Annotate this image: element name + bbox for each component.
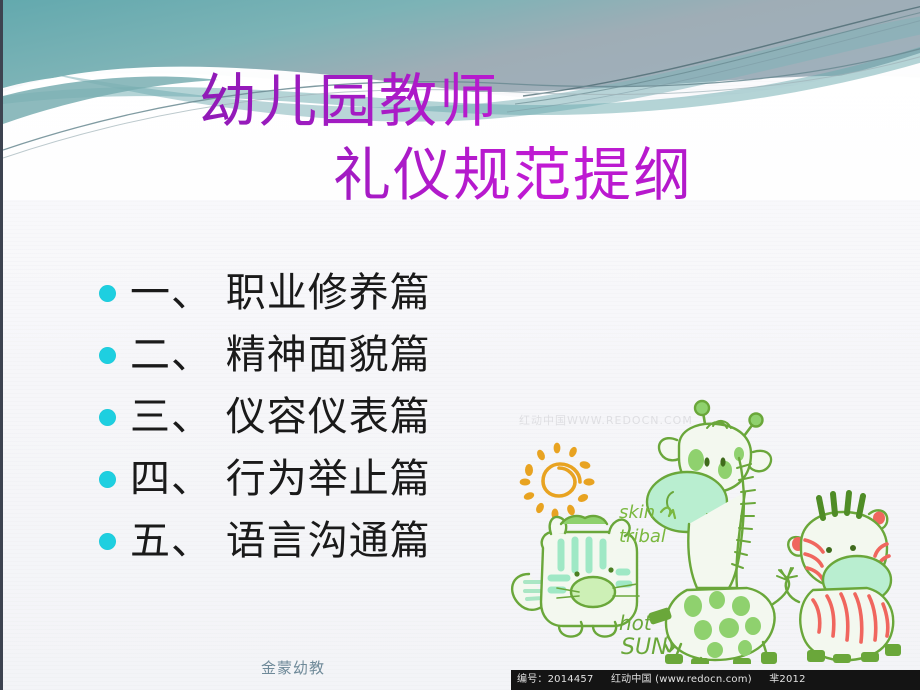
caption-sun: SUN (621, 635, 668, 660)
caption-tribal: tribal (619, 526, 666, 547)
sun-spiral (543, 464, 580, 496)
bullet-dot-icon (99, 347, 116, 364)
watermark-site: 红动中国 (www.redocn.com) (611, 674, 752, 685)
list-item[interactable]: 一、 职业修养篇 (99, 262, 519, 324)
stock-watermark-bar: 编号：2014457 红动中国 (www.redocn.com) 芈2012 (511, 670, 920, 690)
watermark-id: 编号：2014457 (517, 674, 594, 685)
brand-label: 金蒙幼教 (261, 657, 325, 678)
list-item[interactable]: 二、 精神面貌篇 (99, 324, 519, 386)
caption-skin: skin (619, 502, 655, 523)
list-item[interactable]: 五、 语言沟通篇 (99, 510, 519, 572)
list-item-label: 二、 精神面貌篇 (130, 335, 431, 375)
list-item-label: 一、 职业修养篇 (130, 273, 431, 313)
sun-icon (520, 443, 595, 520)
bullet-dot-icon (99, 409, 116, 426)
presentation-slide: 幼儿园教师 礼仪规范提纲 一、 职业修养篇 二、 精神面貌篇 三、 仪容仪表篇 … (0, 0, 920, 690)
bullet-dot-icon (99, 471, 116, 488)
list-item-label: 五、 语言沟通篇 (130, 521, 431, 561)
outline-list: 一、 职业修养篇 二、 精神面貌篇 三、 仪容仪表篇 四、 行为举止篇 五、 语… (99, 262, 519, 572)
title-line-2: 礼仪规范提纲 (3, 138, 763, 212)
bullet-dot-icon (99, 285, 116, 302)
bullet-dot-icon (99, 533, 116, 550)
list-item-label: 三、 仪容仪表篇 (130, 397, 431, 437)
caption-hot: hot (619, 611, 653, 635)
watermark-year: 芈2012 (769, 674, 805, 685)
list-item[interactable]: 三、 仪容仪表篇 (99, 386, 519, 448)
illustration-watermark: 红动中国WWW.REDOCN.COM (519, 412, 693, 428)
page-title: 幼儿园教师 礼仪规范提纲 (3, 64, 763, 212)
cartoon-animals-illustration: skin tribal hot SUN (501, 392, 920, 664)
zebra-figure (777, 493, 901, 663)
title-line-1: 幼儿园教师 (3, 64, 763, 138)
giraffe-figure (647, 401, 797, 664)
list-item-label: 四、 行为举止篇 (130, 459, 431, 499)
list-item[interactable]: 四、 行为举止篇 (99, 448, 519, 510)
